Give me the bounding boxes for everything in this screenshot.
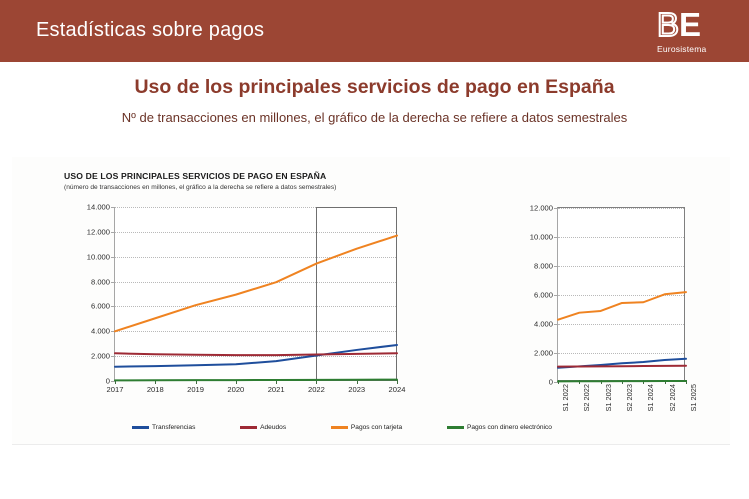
x-axis-tick-label: 2021 (268, 385, 285, 394)
y-axis-tick-label: 14.000 (87, 203, 110, 212)
series-layer (115, 207, 397, 381)
y-axis-tick-label: 10.000 (530, 233, 553, 242)
legend-item[interactable]: Pagos con dinero electrónico (447, 424, 552, 431)
chart-annual: 02.0004.0006.0008.00010.00012.00014.0002… (114, 207, 396, 381)
chart-title: USO DE LOS PRINCIPALES SERVICIOS DE PAGO… (64, 171, 326, 181)
brand-subtitle: Eurosistema (657, 44, 727, 54)
legend-label: Adeudos (260, 424, 286, 431)
legend-item[interactable]: Adeudos (240, 424, 286, 431)
x-axis-tick-label: S1 2023 (604, 384, 613, 412)
page-subtitle: Nº de transacciones en millones, el gráf… (0, 110, 749, 125)
legend-label: Pagos con dinero electrónico (467, 424, 552, 431)
plot-area: 02.0004.0006.0008.00010.00012.00014.0002… (114, 207, 396, 381)
chart-semiannual: 02.0004.0006.0008.00010.00012.000S1 2022… (557, 207, 685, 381)
series-line-pagos-con-tarjeta (558, 292, 686, 320)
banco-de-espana-logo: B E Eurosistema (657, 8, 727, 54)
brand-mark: B E (657, 8, 727, 42)
series-line-adeudos (115, 353, 397, 355)
slide-root: Estadísticas sobre pagos B E Eurosistema… (0, 0, 749, 499)
y-axis-tick-label: 10.000 (87, 252, 110, 261)
legend-color-swatch (132, 426, 149, 428)
legend-color-swatch (331, 426, 348, 428)
x-axis-tick-label: 2020 (227, 385, 244, 394)
legend-label: Pagos con tarjeta (351, 424, 402, 431)
y-axis-tick-label: 2.000 (91, 352, 110, 361)
legend-item[interactable]: Pagos con tarjeta (331, 424, 402, 431)
y-axis-tick-label: 12.000 (530, 204, 553, 213)
series-line-pagos-con-tarjeta (115, 236, 397, 332)
x-axis-tick-label: S2 2023 (625, 384, 634, 412)
x-axis-tick-label: 2019 (187, 385, 204, 394)
page-title: Uso de los principales servicios de pago… (0, 76, 749, 99)
chart-panel: USO DE LOS PRINCIPALES SERVICIOS DE PAGO… (12, 157, 730, 445)
series-layer (558, 208, 686, 382)
x-axis-tick-label: 2017 (107, 385, 124, 394)
chart-subtitle: (número de transacciones en millones, el… (64, 184, 336, 191)
legend-label: Transferencias (152, 424, 195, 431)
legend-color-swatch (240, 426, 257, 428)
x-axis-tick-label: 2024 (389, 385, 406, 394)
legend-item[interactable]: Transferencias (132, 424, 195, 431)
x-axis-tick-label: 2022 (308, 385, 325, 394)
x-axis-tick-label: S2 2024 (668, 384, 677, 412)
x-axis-tick-label: 2023 (348, 385, 365, 394)
series-line-pagos-con-dinero-electrónico (115, 380, 397, 381)
x-axis-tick-label: S2 2022 (582, 384, 591, 412)
y-axis-tick-label: 4.000 (534, 320, 553, 329)
brand-letter-e: E (679, 8, 700, 41)
y-axis-tick-label: 8.000 (534, 262, 553, 271)
plot-area: 02.0004.0006.0008.00010.00012.000S1 2022… (557, 207, 685, 381)
x-axis-tick-label: S1 2022 (561, 384, 570, 412)
x-axis-tick-label: S1 2024 (646, 384, 655, 412)
header-title: Estadísticas sobre pagos (36, 19, 264, 42)
chart-legend: TransferenciasAdeudosPagos con tarjetaPa… (132, 424, 552, 431)
y-axis-tick-label: 12.000 (87, 227, 110, 236)
y-axis-tick-label: 8.000 (91, 277, 110, 286)
y-axis-tick-label: 6.000 (534, 291, 553, 300)
y-axis-tick-label: 4.000 (91, 327, 110, 336)
y-axis-tick-label: 6.000 (91, 302, 110, 311)
x-axis-tick-label: 2018 (147, 385, 164, 394)
y-axis-tick-label: 2.000 (534, 349, 553, 358)
header-bar: Estadísticas sobre pagos B E Eurosistema (0, 0, 749, 62)
x-axis-tick-label: S1 2025 (689, 384, 698, 412)
y-axis-tick-label: 0 (549, 378, 553, 387)
series-line-adeudos (558, 366, 686, 367)
brand-letter-b: B (657, 8, 678, 41)
legend-color-swatch (447, 426, 464, 428)
